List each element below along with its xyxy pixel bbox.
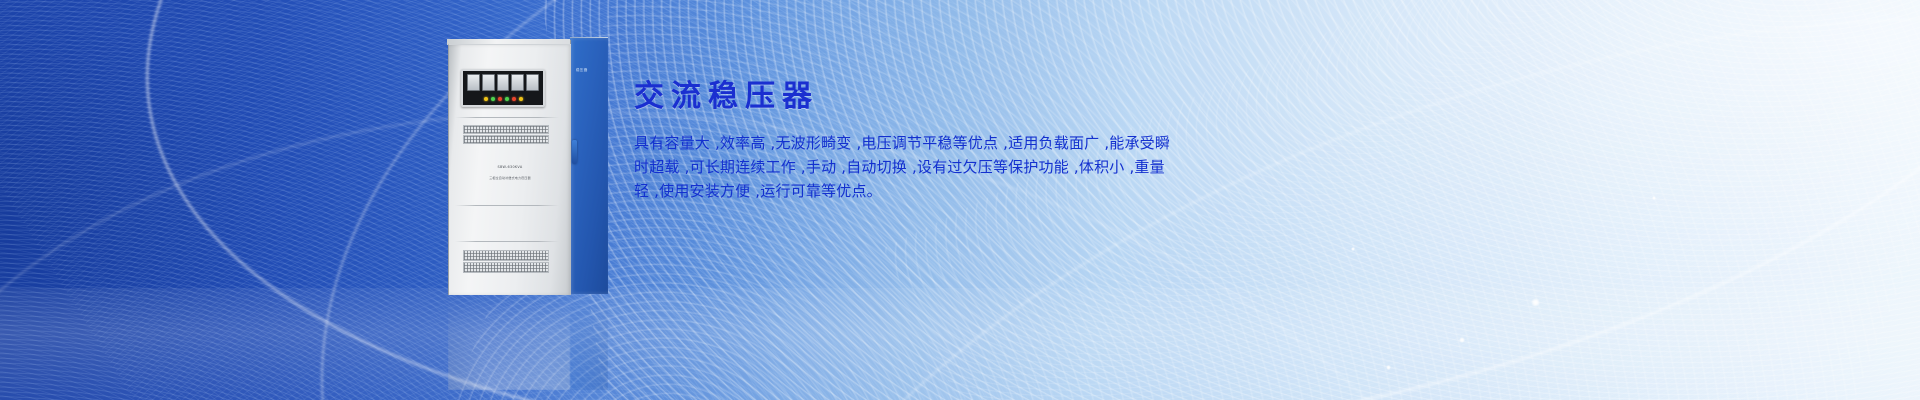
indicator-lamp-red-2 (512, 97, 516, 101)
panel-indicator-lamps-row (467, 97, 539, 102)
indicator-lamp-yellow-2 (519, 97, 523, 101)
cabinet-vent-lower-2 (463, 262, 549, 273)
indicator-lamp-green-2 (505, 97, 509, 101)
banner-body-text: 具有容量大 ,效率高 ,无波形畸变 ,电压调节平稳等优点 ,适用负载面广 ,能承… (634, 131, 1174, 203)
cabinet-seam-1 (455, 117, 559, 118)
cabinet-side-badge: 稳压器 (576, 68, 588, 73)
promo-banner: SBW-630KVA 三相全自动补偿式电力稳压器 稳压器 交流稳压器 具有容量大… (0, 0, 1920, 400)
cabinet-vent-upper-2 (463, 135, 549, 144)
indicator-lamp-yellow-1 (484, 97, 488, 101)
product-image-voltage-stabilizer: SBW-630KVA 三相全自动补偿式电力稳压器 稳压器 (448, 44, 608, 294)
meter-4 (511, 74, 524, 91)
banner-headline: 交流稳压器 (634, 80, 1174, 115)
banner-body-line-1: 具有容量大 ,效率高 ,无波形畸变 ,电压调节平稳等优点 ,适用负载面广 ,能承… (634, 131, 1174, 155)
banner-body-line-2: 时超载 ,可长期连续工作 ,手动 ,自动切换 ,设有过欠压等保护功能 ,体积小 … (634, 155, 1174, 179)
indicator-lamp-green-1 (491, 97, 495, 101)
banner-copy-block: 交流稳压器 具有容量大 ,效率高 ,无波形畸变 ,电压调节平稳等优点 ,适用负载… (634, 80, 1174, 203)
panel-meters-row (467, 74, 539, 91)
cabinet-door-handle (572, 140, 577, 164)
meter-3 (497, 74, 510, 91)
meter-1 (467, 74, 480, 91)
control-panel (461, 69, 545, 107)
meter-2 (482, 74, 495, 91)
product-description-label: 三相全自动补偿式电力稳压器 (449, 176, 571, 180)
indicator-lamp-red-1 (498, 97, 502, 101)
product-model-label: SBW-630KVA (449, 165, 571, 169)
cabinet-vent-upper (463, 125, 549, 134)
cabinet-seam-2 (455, 205, 559, 206)
meter-5 (526, 74, 539, 91)
cabinet-seam-3 (455, 241, 559, 242)
cabinet-vent-lower (463, 250, 549, 261)
cabinet-side-panel-blue (570, 38, 608, 294)
banner-body-line-3: 轻 ,使用安装方便 ,运行可靠等优点。 (634, 179, 1174, 203)
cabinet-front-face: SBW-630KVA 三相全自动补偿式电力稳压器 (448, 44, 571, 295)
